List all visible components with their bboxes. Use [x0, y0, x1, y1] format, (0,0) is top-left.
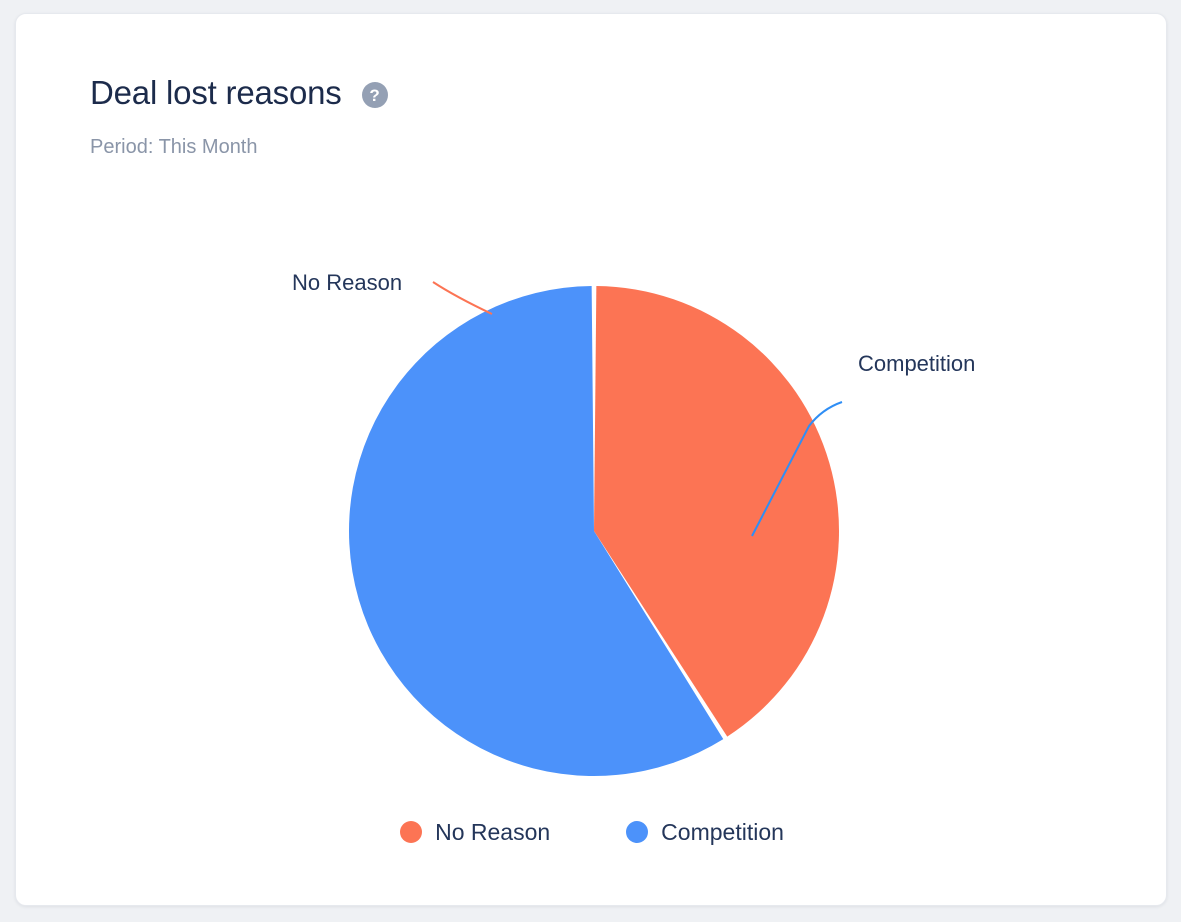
- legend-swatch-competition: [626, 821, 648, 843]
- question-mark-icon[interactable]: ?: [362, 82, 388, 108]
- legend-item-no-reason[interactable]: No Reason: [400, 819, 550, 845]
- legend-item-competition[interactable]: Competition: [626, 819, 784, 845]
- question-mark-glyph: ?: [369, 87, 379, 104]
- legend-swatch-no-reason: [400, 821, 422, 843]
- callout-label-competition: Competition: [858, 351, 975, 376]
- page-title: Deal lost reasons: [90, 73, 342, 113]
- chart-legend: No Reason Competition: [16, 819, 1167, 845]
- card-header: Deal lost reasons ? Period: This Month: [90, 71, 388, 159]
- pie-chart: No Reason Competition: [16, 204, 1167, 804]
- period-subtitle: Period: This Month: [90, 135, 388, 159]
- deal-lost-reasons-card: Deal lost reasons ? Period: This Month N…: [15, 13, 1167, 906]
- legend-label-competition: Competition: [661, 819, 784, 845]
- pie-chart-svg: No Reason Competition: [16, 204, 1167, 804]
- callout-line-no-reason: [433, 282, 492, 314]
- title-row: Deal lost reasons ?: [90, 71, 388, 115]
- legend-label-no-reason: No Reason: [435, 819, 550, 845]
- callout-label-no-reason: No Reason: [292, 270, 402, 295]
